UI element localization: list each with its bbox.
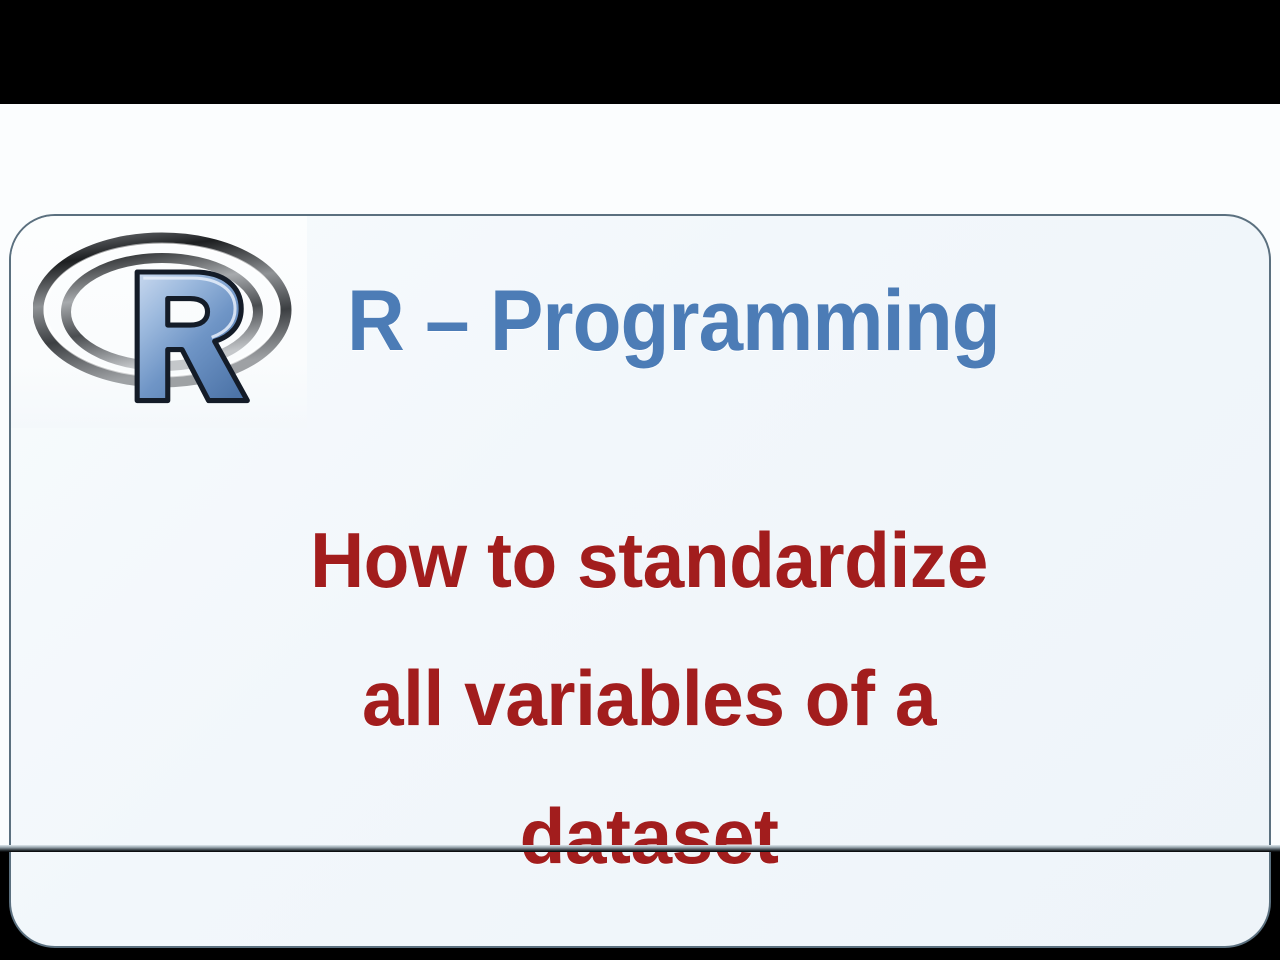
slide-heading: How to standardize all variables of a da… — [11, 491, 1269, 905]
video-stage: R – Programming How to standardize all v… — [0, 0, 1280, 960]
slide-panel: R – Programming How to standardize all v… — [9, 214, 1271, 948]
heading-line-1: How to standardize — [54, 491, 1244, 629]
heading-line-2: all variables of a — [54, 629, 1244, 767]
heading-line-3: dataset — [54, 767, 1244, 905]
course-title: R – Programming — [347, 278, 1000, 364]
slide-area: R – Programming How to standardize all v… — [0, 104, 1280, 852]
r-language-logo-icon — [33, 220, 301, 426]
slide-header: R – Programming — [11, 216, 1269, 431]
letterbox-bottom-seam — [0, 845, 1280, 852]
